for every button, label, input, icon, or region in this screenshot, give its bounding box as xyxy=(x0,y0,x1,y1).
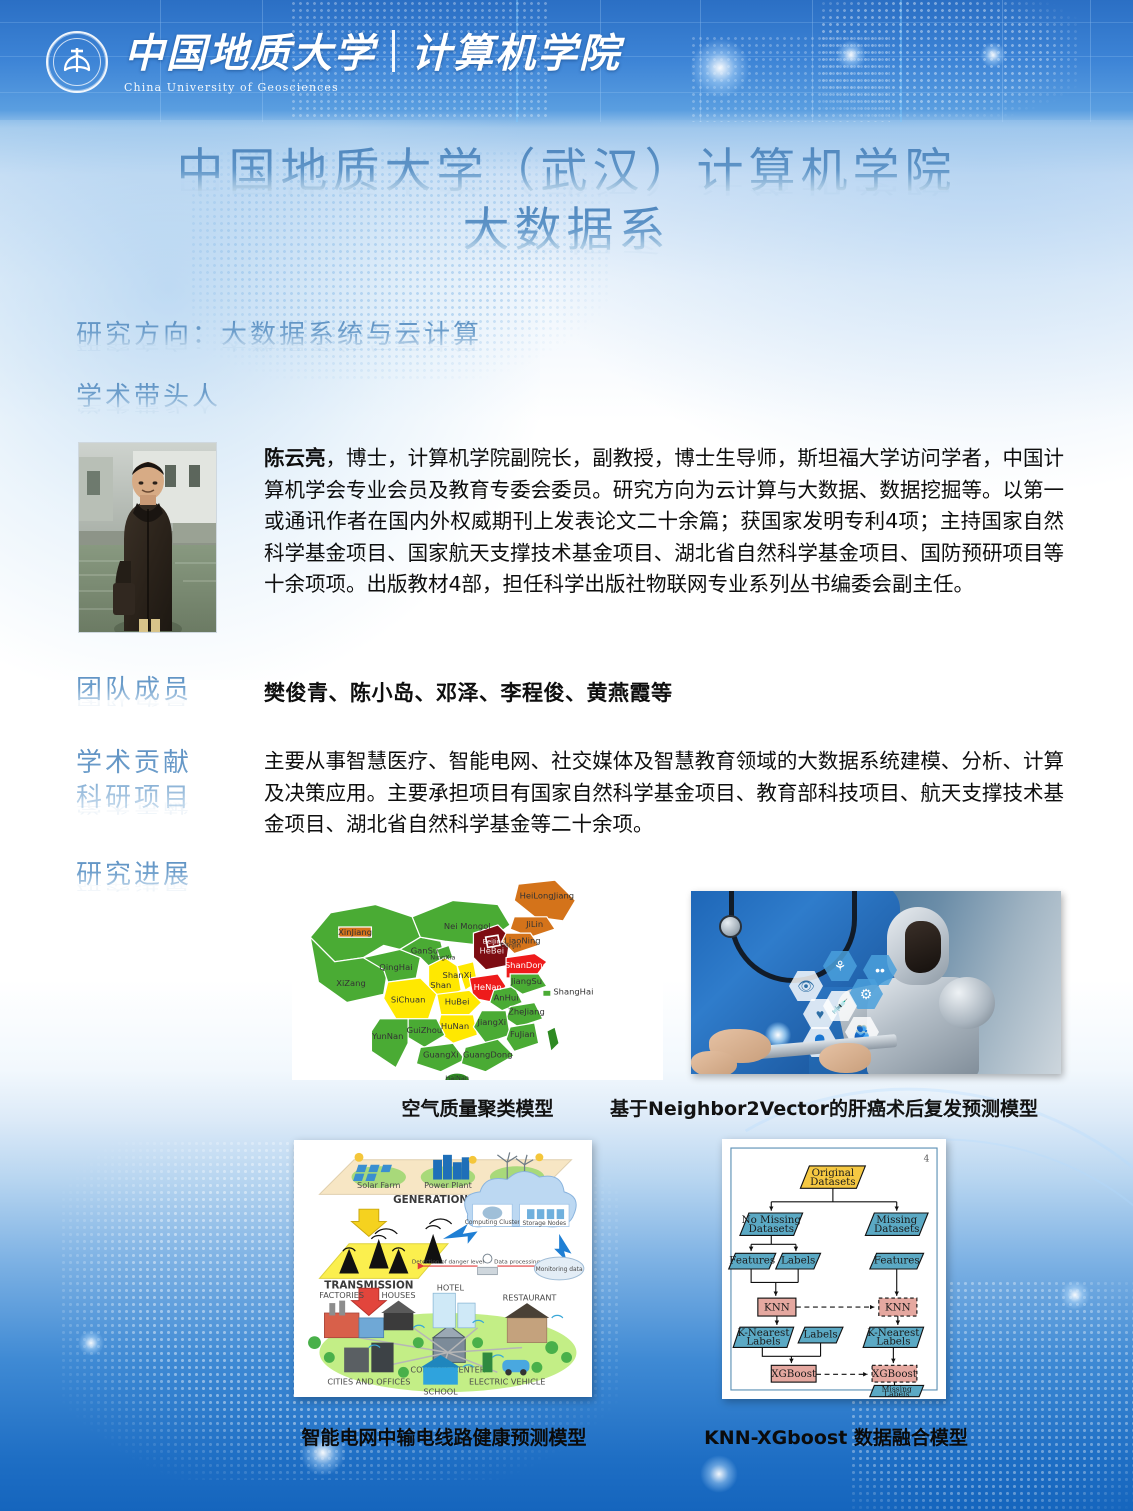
svg-text:SCHOOL: SCHOOL xyxy=(423,1387,458,1397)
title-line-2: 大数据系 xyxy=(0,205,1133,258)
svg-text:XinJiang: XinJiang xyxy=(338,927,372,937)
svg-text:CITIES AND OFFICES: CITIES AND OFFICES xyxy=(327,1377,410,1387)
svg-text:Labels: Labels xyxy=(746,1335,780,1347)
svg-text:GuangDong: GuangDong xyxy=(463,1050,513,1060)
team-members-list: 樊俊青、陈小岛、邓泽、李程俊、黄燕霞等 xyxy=(264,677,1064,707)
header-glow-1 xyxy=(690,38,750,98)
svg-text:GuangXi: GuangXi xyxy=(423,1050,459,1060)
college-name-cn: 计算机学院 xyxy=(411,34,621,74)
figure-caption-liver-cancer: 基于Neighbor2Vector的肝癌术后复发预测模型 xyxy=(585,1094,1063,1121)
svg-text:GuiZhou: GuiZhou xyxy=(407,1025,443,1035)
svg-text:KNN: KNN xyxy=(885,1301,911,1313)
svg-text:Labels: Labels xyxy=(803,1328,837,1340)
svg-text:JiLin: JiLin xyxy=(525,919,543,929)
svg-text:XGBoost: XGBoost xyxy=(872,1368,918,1380)
svg-text:Solar Farm: Solar Farm xyxy=(357,1180,400,1190)
leader-bio-text: ，博士，计算机学院副院长，副教授，博士生导师，斯坦福大学访问学者，中国计算机学会… xyxy=(264,446,1064,596)
header-band: 中国地质大学 计算机学院 China University of Geoscie… xyxy=(0,0,1133,122)
svg-text:ShanXi: ShanXi xyxy=(443,970,472,980)
svg-text:FACTORIES: FACTORIES xyxy=(319,1290,364,1300)
svg-text:XiZang: XiZang xyxy=(336,978,366,988)
svg-text:HeiLongJiang: HeiLongJiang xyxy=(520,890,575,900)
header-glow-2 xyxy=(836,40,866,70)
svg-text:Data processing: Data processing xyxy=(494,1260,540,1266)
svg-text:JiangXi: JiangXi xyxy=(476,1017,506,1027)
svg-text:Datasets: Datasets xyxy=(874,1223,919,1235)
footer-glow-4 xyxy=(78,1330,104,1356)
team-members-label: 团队成员 xyxy=(76,673,192,708)
svg-text:RESTAURANT: RESTAURANT xyxy=(503,1293,557,1303)
svg-text:HOTEL: HOTEL xyxy=(437,1283,465,1293)
svg-text:Nei Mongol: Nei Mongol xyxy=(444,921,491,931)
figure-liver-cancer-photo: 👁 ♥ 👤 ⚘ ⚙ •• 🫂 💉 xyxy=(691,891,1061,1074)
svg-text:NingXia: NingXia xyxy=(430,954,455,962)
wordmark-divider xyxy=(392,30,395,72)
svg-text:Monitoring data: Monitoring data xyxy=(536,1266,583,1273)
research-progress-label: 研究进展 xyxy=(76,858,192,893)
svg-text:Features: Features xyxy=(729,1254,775,1266)
svg-text:XGBoost: XGBoost xyxy=(771,1368,817,1380)
research-direction: 研究方向：大数据系统与云计算 研究方向：大数据系统与云计算 xyxy=(76,318,482,353)
svg-text:HuBei: HuBei xyxy=(445,997,470,1007)
figure-smart-grid-diagram: Solar Farm Power Plant Wind Farm GENERAT… xyxy=(294,1140,592,1397)
contribution-text: 主要从事智慧医疗、智能电网、社交媒体及智慧教育领域的大数据系统建模、分析、计算及… xyxy=(264,746,1064,841)
svg-text:4: 4 xyxy=(924,1154,930,1164)
svg-text:Detection of danger level: Detection of danger level xyxy=(412,1260,484,1266)
svg-text:ELECTRIC VEHICLE: ELECTRIC VEHICLE xyxy=(469,1377,545,1387)
svg-text:FuJian: FuJian xyxy=(510,1029,535,1039)
svg-text:YunNan: YunNan xyxy=(371,1031,403,1041)
svg-text:LiaoNing: LiaoNing xyxy=(504,935,540,945)
svg-text:KNN: KNN xyxy=(764,1301,790,1313)
svg-text:HeNan: HeNan xyxy=(474,982,502,992)
svg-text:ShangHai: ShangHai xyxy=(553,986,593,996)
leader-portrait-photo xyxy=(78,442,217,633)
team-members-section: 团队成员 团队成员 xyxy=(76,673,192,708)
research-progress-section: 研究进展 研究进展 xyxy=(76,858,192,893)
svg-text:Computing Cluster: Computing Cluster xyxy=(465,1219,521,1226)
svg-text:ZheJiang: ZheJiang xyxy=(508,1007,545,1017)
svg-text:Power Plant: Power Plant xyxy=(424,1180,472,1190)
university-name-en: China University of Geosciences xyxy=(124,81,621,94)
figure-knn-xgboost-flowchart: 4 Original Datasets No Missing Datasets … xyxy=(722,1139,946,1399)
svg-text:HuNan: HuNan xyxy=(441,1021,469,1031)
svg-text:QingHai: QingHai xyxy=(379,962,412,972)
svg-text:AnHui: AnHui xyxy=(494,992,519,1002)
header-glow-3 xyxy=(980,42,1006,68)
svg-text:ShanDong: ShanDong xyxy=(505,960,548,970)
svg-text:SiChuan: SiChuan xyxy=(391,994,425,1004)
svg-text:Shan: Shan xyxy=(430,980,451,990)
figure-air-quality-map: XinJiang XiZang QingHai GanSu Nei Mongol… xyxy=(292,876,663,1080)
university-name-cn: 中国地质大学 xyxy=(124,34,376,74)
footer-glow-2 xyxy=(700,1455,738,1493)
leader-biography: 陈云亮，博士，计算机学院副院长，副教授，博士生导师，斯坦福大学访问学者，中国计算… xyxy=(264,443,1064,601)
research-direction-label: 研究方向：大数据系统与云计算 xyxy=(76,318,482,353)
svg-text:Labels: Labels xyxy=(781,1254,815,1266)
svg-text:Features: Features xyxy=(874,1254,920,1266)
svg-text:Labels: Labels xyxy=(876,1335,910,1347)
figure-caption-knn-xgboost: KNN-XGboost 数据融合模型 xyxy=(676,1423,996,1450)
contribution-label: 学术贡献 科研项目 xyxy=(76,746,192,816)
svg-text:Labels: Labels xyxy=(884,1390,909,1399)
title-line-1: 中国地质大学（武汉）计算机学院 xyxy=(177,144,957,199)
wordmark: 中国地质大学 计算机学院 China University of Geoscie… xyxy=(124,30,621,94)
header-logo-lockup: 中国地质大学 计算机学院 China University of Geoscie… xyxy=(46,30,621,94)
svg-text:HaiNan: HaiNan xyxy=(445,1074,469,1080)
academic-leader-label: 学术带头人 xyxy=(76,380,221,415)
contribution-section: 学术贡献 科研项目 学术贡献 科研项目 xyxy=(76,746,192,816)
academic-leader-section: 学术带头人 学术带头人 xyxy=(76,380,221,415)
svg-text:Datasets: Datasets xyxy=(810,1176,855,1188)
poster-root: 中国地质大学 计算机学院 China University of Geoscie… xyxy=(0,0,1133,1511)
svg-text:Storage Nodes: Storage Nodes xyxy=(523,1220,567,1227)
leader-name: 陈云亮 xyxy=(264,446,326,470)
page-title: 中国地质大学（武汉）计算机学院 中国地质大学（武汉）计算机学院 大数据系 大数据… xyxy=(0,146,1133,257)
svg-text:GENERATION: GENERATION xyxy=(393,1194,468,1206)
svg-text:JiangSu: JiangSu xyxy=(510,976,542,986)
figure-caption-smart-grid: 智能电网中输电线路健康预测模型 xyxy=(255,1423,633,1450)
university-crest-icon xyxy=(46,31,108,93)
svg-text:HOUSES: HOUSES xyxy=(382,1290,416,1300)
footer-glow-3 xyxy=(1060,1280,1090,1310)
svg-text:Datasets: Datasets xyxy=(749,1223,794,1235)
